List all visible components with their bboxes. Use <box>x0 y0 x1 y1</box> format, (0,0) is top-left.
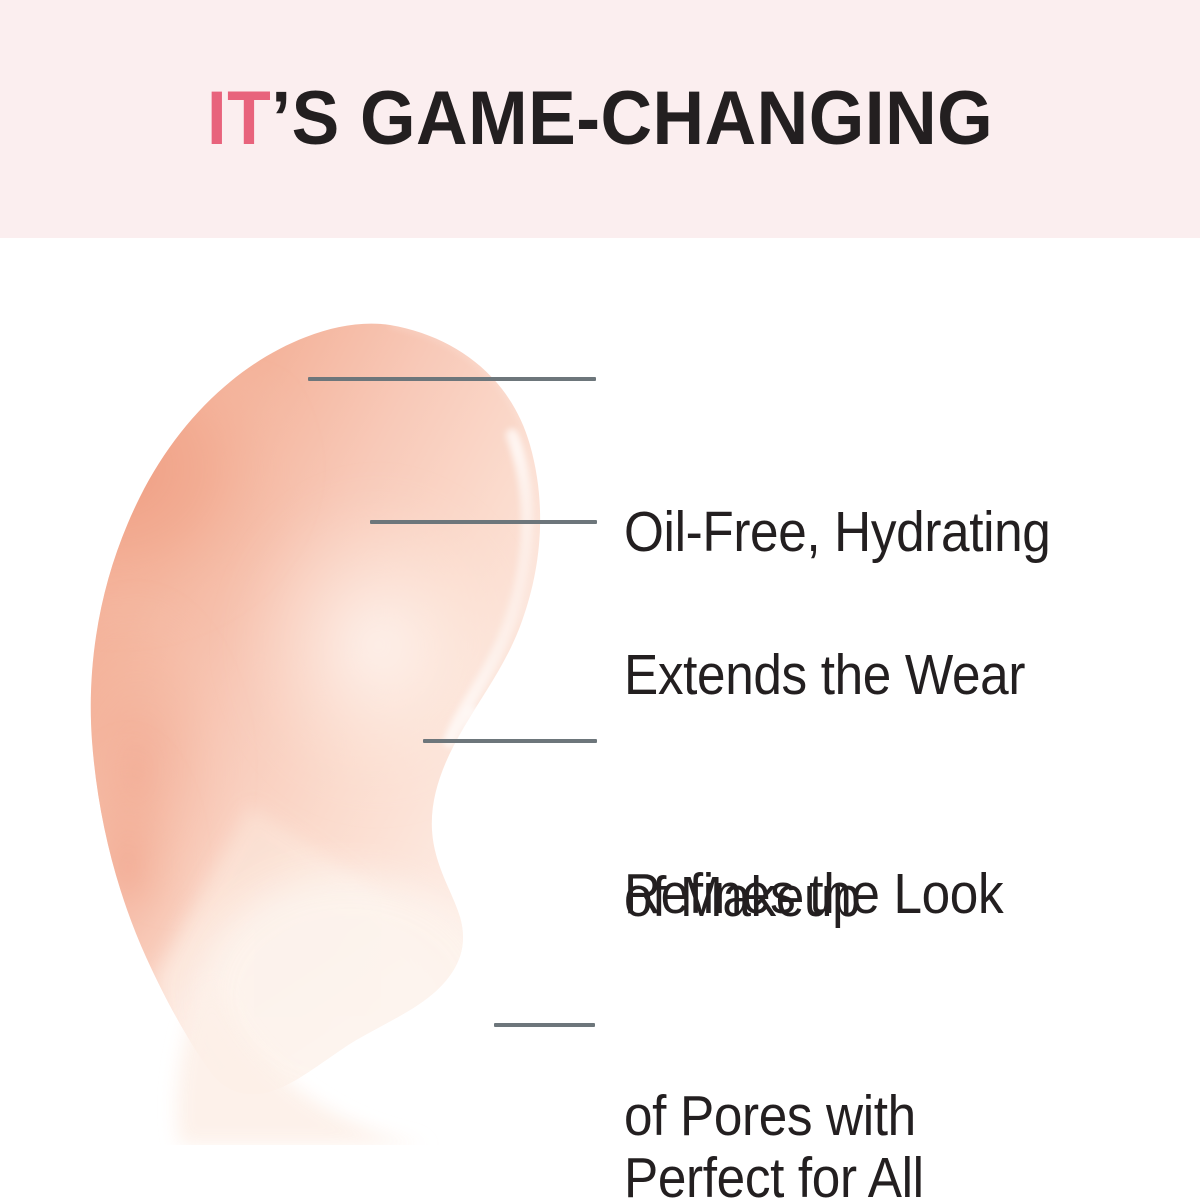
feature-label-4: Perfect for All Skin Types <box>624 993 924 1200</box>
page-title-rest: ’S GAME-CHANGING <box>271 81 993 157</box>
feature-label-4-line-1: Perfect for All <box>624 1141 924 1200</box>
page-title-accent: IT <box>207 81 271 157</box>
page-title: IT’S GAME-CHANGING <box>36 0 1164 238</box>
feature-label-3-line-1: Refines the Look <box>624 857 1003 931</box>
leader-line-1 <box>308 377 596 381</box>
leader-line-4 <box>494 1023 595 1027</box>
product-benefits-graphic: IT’S GAME-CHANGING <box>0 0 1200 1200</box>
cream-swatch-image <box>60 285 620 1145</box>
leader-line-2 <box>370 520 597 524</box>
feature-label-2-line-1: Extends the Wear <box>624 638 1025 712</box>
leader-line-3 <box>423 739 597 743</box>
